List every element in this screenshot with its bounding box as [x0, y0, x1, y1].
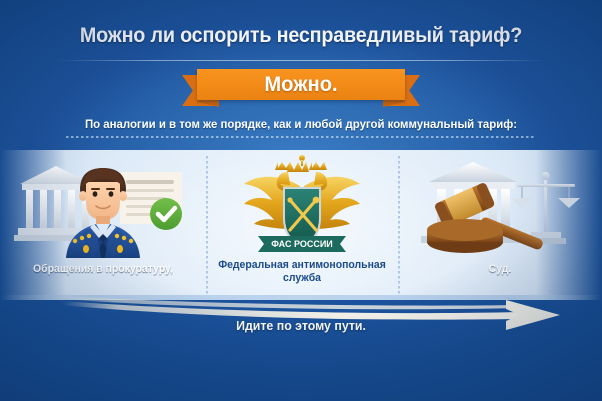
title-divider [56, 60, 546, 61]
column-prosecutor: Обращения в прокуратуру, [0, 150, 206, 300]
infographic-poster: Можно ли оспорить несправедливый тариф? … [0, 0, 602, 401]
caption-prosecutor: Обращения в прокуратуру, [5, 263, 201, 276]
caption-fas-line1: Федеральная антимонопольная [218, 259, 386, 271]
check-badge-icon [150, 198, 182, 230]
caption-court: Суд. [403, 263, 597, 276]
fas-emblem-illustration: ФАС РОССИИ [206, 154, 398, 258]
caption-fas-line2: служба [283, 272, 321, 284]
court-illustration [398, 154, 602, 258]
subtitle: По аналогии и в том же порядке, как и лю… [15, 117, 587, 131]
caption-fas: Федеральная антимонопольная служба [211, 259, 393, 285]
columns-panel: Обращения в прокуратуру, [0, 150, 602, 300]
emblem-banner: ФАС РОССИИ [258, 236, 346, 252]
subtitle-dotted-divider [66, 136, 536, 138]
column-fas: ФАС РОССИИ Федеральная антимонопольная с… [206, 150, 398, 300]
page-title: Можно ли оспорить несправедливый тариф? [18, 24, 584, 48]
prosecutor-illustration [0, 154, 206, 258]
ribbon-label: Можно. [12, 64, 590, 106]
footer-caption: Идите по этому пути. [15, 318, 587, 333]
emblem-banner-text: ФАС РОССИИ [271, 239, 333, 249]
column-court: Суд. [398, 150, 602, 300]
